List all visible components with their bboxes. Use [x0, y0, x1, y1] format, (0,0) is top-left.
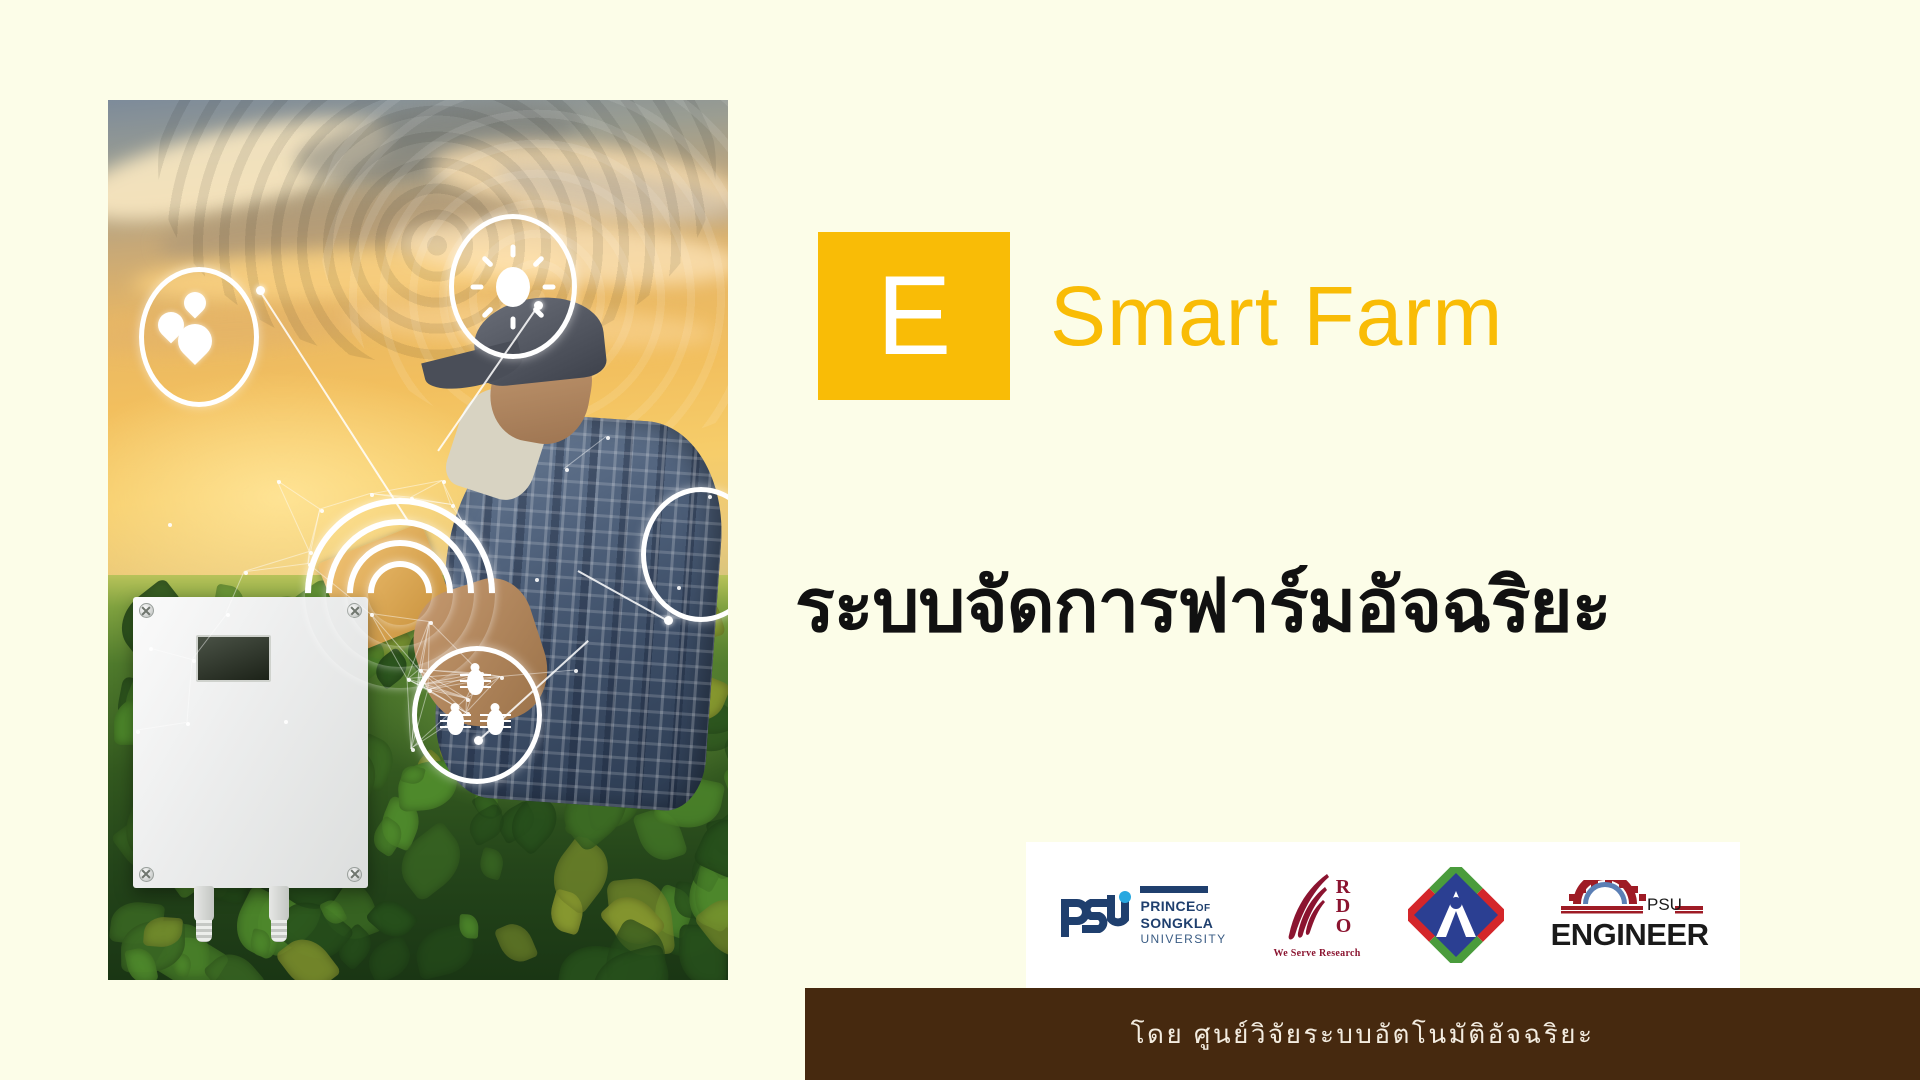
cable-gland: [194, 886, 214, 922]
leaf-shape: [365, 892, 419, 945]
partner-logo-strip: PRINCEOF SONGKLA UNIVERSITY R D O: [1026, 842, 1740, 988]
psu-logo: PRINCEOF SONGKLA UNIVERSITY: [1057, 886, 1226, 945]
screw-icon: [347, 867, 362, 882]
psu-line-1: PRINCEOF: [1140, 899, 1226, 914]
psu-rule: [1140, 886, 1208, 893]
rdo-logo: R D O We Serve Research: [1273, 871, 1360, 959]
brand-lockup: E Smart Farm: [818, 232, 1503, 400]
leaf-shape: [493, 918, 538, 968]
slide-canvas: E Smart Farm ระบบจัดการฟาร์มอัจฉริยะ: [0, 0, 1920, 1080]
leaf-shape: [459, 914, 479, 939]
svg-text:PSU: PSU: [1647, 895, 1682, 914]
rdo-tagline: We Serve Research: [1273, 948, 1360, 959]
psu-wordmark: PRINCEOF SONGKLA UNIVERSITY: [1138, 886, 1226, 945]
footer-bar: โดย ศูนย์วิจัยระบบอัตโนมัติอัจฉริยะ: [805, 988, 1920, 1080]
screw-icon: [347, 603, 362, 618]
psu-line-3: UNIVERSITY: [1140, 933, 1226, 945]
screw-icon: [139, 867, 154, 882]
hero-photo: [108, 100, 728, 980]
psu-engineer-wordmark: ENGINEER: [1551, 919, 1709, 950]
rdo-swoosh-icon: [1283, 871, 1335, 943]
iot-control-box: [133, 597, 369, 887]
brand-name: Smart Farm: [1050, 268, 1503, 365]
rdo-letters: R D O: [1336, 878, 1352, 936]
psu-line-2: SONGKLA: [1140, 916, 1226, 930]
cable-gland: [269, 886, 289, 922]
screw-icon: [139, 603, 154, 618]
footer-credit-text: โดย ศูนย์วิจัยระบบอัตโนมัติอัจฉริยะ: [1131, 1014, 1595, 1055]
brand-mark-e: E: [818, 232, 1010, 400]
control-box-display: [196, 635, 271, 683]
psu-monogram-icon: [1057, 889, 1131, 941]
brand-mark-letter: E: [877, 260, 952, 372]
leaf-shape: [463, 803, 510, 847]
psu-engineer-gear-icon: PSU: [1555, 880, 1705, 918]
psu-engineer-logo: PSU ENGINEER: [1551, 880, 1709, 950]
leaf-shape: [477, 847, 507, 881]
page-title: ระบบจัดการฟาร์มอัจฉริยะ: [795, 546, 1611, 664]
diamond-a-logo: [1408, 867, 1504, 963]
